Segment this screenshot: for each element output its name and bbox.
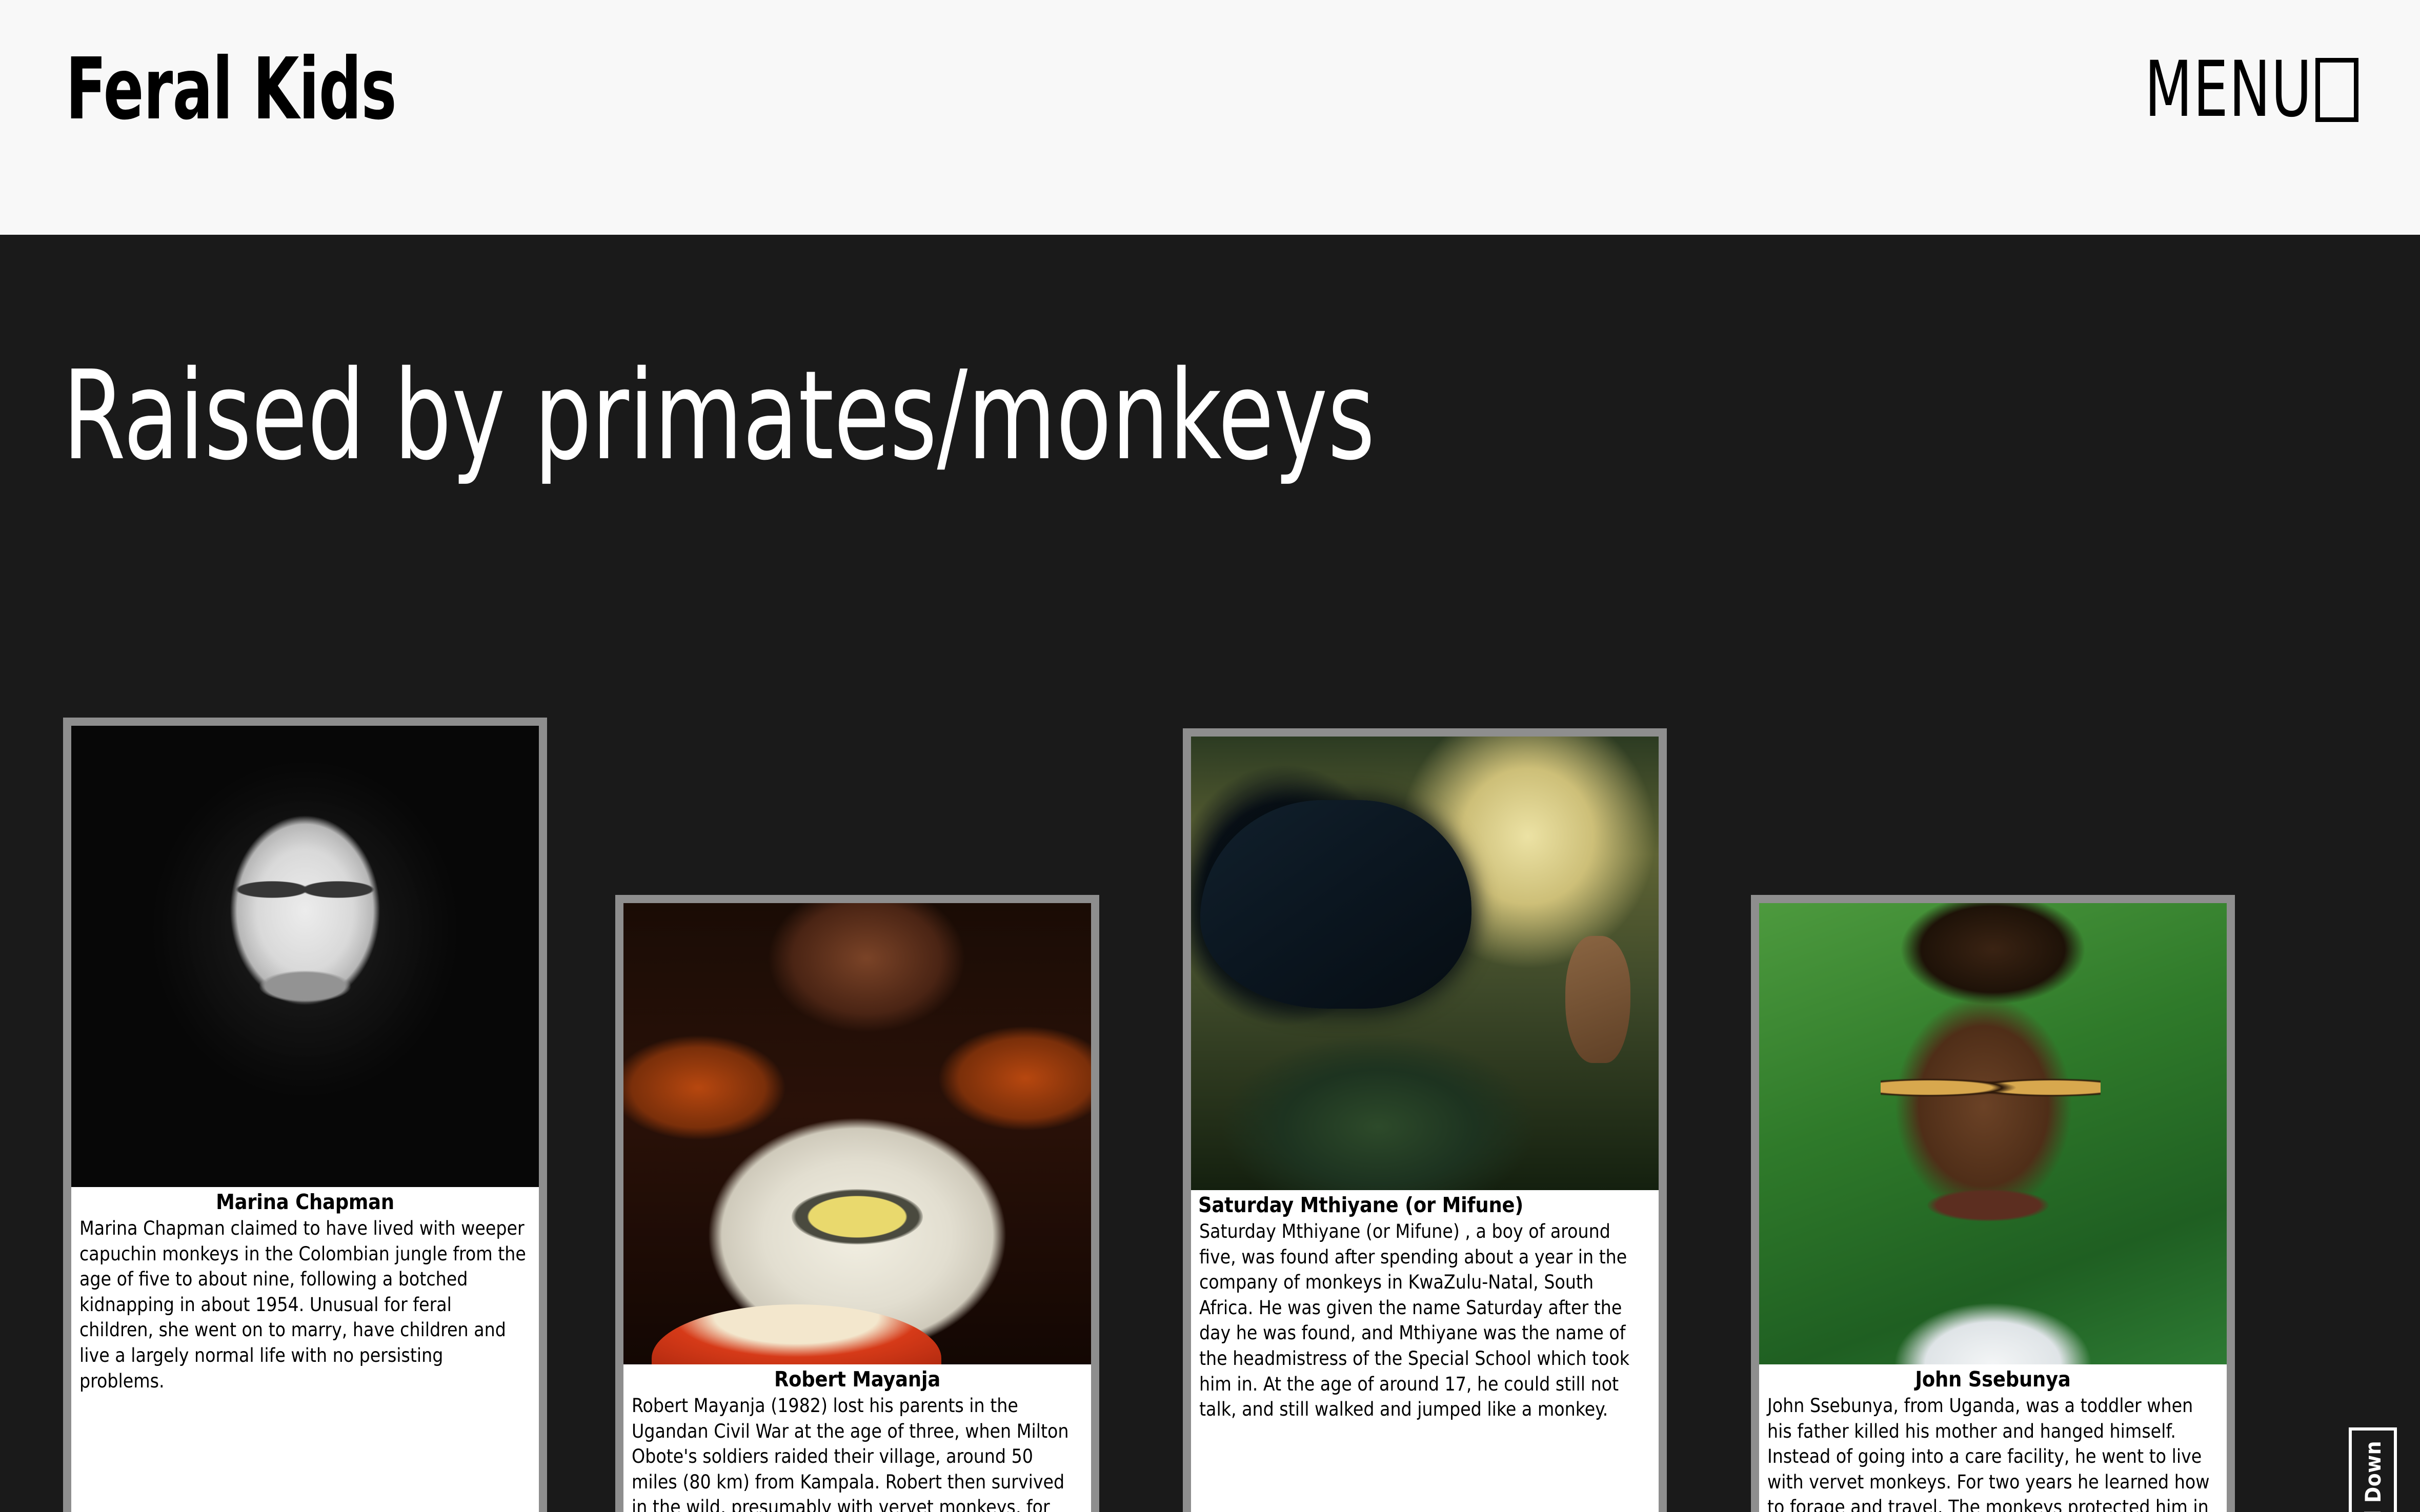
card-description: Robert Mayanja (1982) lost his parents i…: [623, 1393, 1091, 1512]
card-description: Saturday Mthiyane (or Mifune) , a boy of…: [1191, 1219, 1659, 1422]
card-title: Robert Mayanja: [623, 1367, 1091, 1392]
menu-button[interactable]: MENU: [2103, 51, 2358, 128]
card-inner: John Ssebunya John Ssebunya, from Uganda…: [1759, 903, 2227, 1512]
feral-kid-card-saturday-mthiyane[interactable]: Saturday Mthiyane (or Mifune) Saturday M…: [1183, 728, 1667, 1512]
menu-label: MENU: [2144, 51, 2312, 128]
feral-kid-card-robert-mayanja[interactable]: Robert Mayanja Robert Mayanja (1982) los…: [615, 895, 1099, 1512]
feral-kid-card-john-ssebunya[interactable]: John Ssebunya John Ssebunya, from Uganda…: [1751, 895, 2235, 1512]
scroll-down-label-box[interactable]: Scroll Down: [2349, 1427, 2397, 1512]
card-inner: Saturday Mthiyane (or Mifune) Saturday M…: [1191, 737, 1659, 1512]
card-title: Marina Chapman: [71, 1190, 539, 1214]
scroll-down-label: Scroll Down: [2361, 1441, 2386, 1512]
main-content-area: Raised by primates/monkeys Marina Chapma…: [0, 235, 2420, 1512]
square-box-icon: [2315, 58, 2358, 122]
card-title: Saturday Mthiyane (or Mifune): [1191, 1193, 1659, 1217]
jungle-book-photo-saturday-mthiyane: [1191, 737, 1659, 1190]
portrait-photo-john-ssebunya: [1759, 903, 2227, 1364]
section-heading: Raised by primates/monkeys: [63, 354, 1375, 477]
card-inner: Marina Chapman Marina Chapman claimed to…: [71, 726, 539, 1512]
brand-title: Feral Kids: [66, 47, 396, 132]
card-description: Marina Chapman claimed to have lived wit…: [71, 1216, 539, 1394]
site-header: Feral Kids MENU: [0, 0, 2420, 235]
card-title: John Ssebunya: [1759, 1367, 2227, 1392]
card-inner: Robert Mayanja Robert Mayanja (1982) los…: [623, 903, 1091, 1512]
portrait-photo-robert-mayanja: [623, 903, 1091, 1364]
card-description: John Ssebunya, from Uganda, was a toddle…: [1759, 1393, 2227, 1512]
portrait-photo-marina-chapman: [71, 726, 539, 1187]
feral-kid-card-marina-chapman[interactable]: Marina Chapman Marina Chapman claimed to…: [63, 718, 547, 1512]
scroll-down-widget[interactable]: Scroll Down: [2348, 1427, 2397, 1512]
